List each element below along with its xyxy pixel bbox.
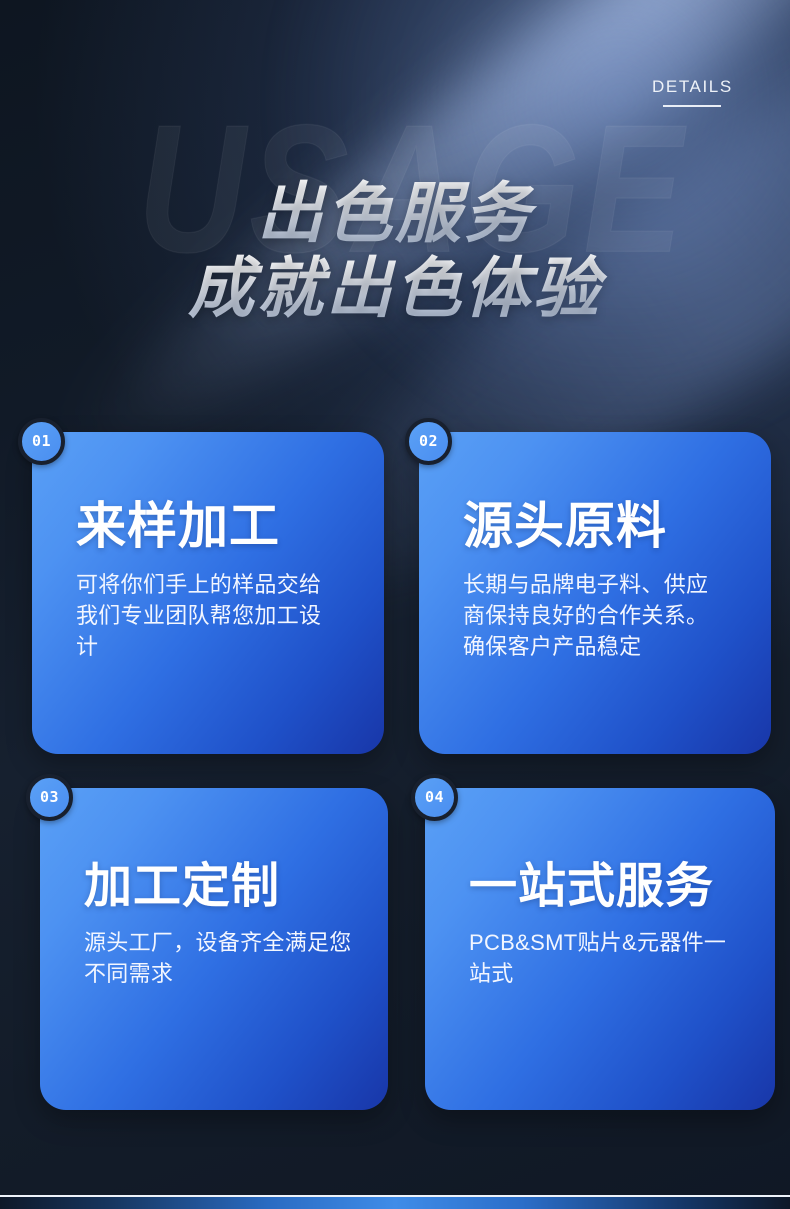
card-description: PCB&SMT贴片&元器件一站式 xyxy=(469,927,737,989)
card-title: 一站式服务 xyxy=(469,862,749,913)
card-content: 源头原料 长期与品牌电子料、供应商保持良好的合作关系。确保客户产品稳定 xyxy=(463,500,745,663)
card-number-label: 04 xyxy=(425,790,444,805)
card-number-label: 03 xyxy=(40,790,59,805)
card-number-label: 01 xyxy=(32,434,51,449)
feature-card-03[interactable]: 03 加工定制 源头工厂，设备齐全满足您不同需求 xyxy=(40,788,388,1110)
card-number-label: 02 xyxy=(419,434,438,449)
card-title: 来样加工 xyxy=(76,500,358,553)
promo-banner-page: USAGE DETAILS 出色服务 成就出色体验 01 来样加工 可将你们手上… xyxy=(0,0,790,1209)
card-number-badge: 02 xyxy=(405,418,452,465)
card-description: 可将你们手上的样品交给我们专业团队帮您加工设计 xyxy=(76,569,338,663)
card-description: 长期与品牌电子料、供应商保持良好的合作关系。确保客户产品稳定 xyxy=(463,569,725,663)
feature-card-grid: 01 来样加工 可将你们手上的样品交给我们专业团队帮您加工设计 02 源头原料 … xyxy=(0,0,790,1209)
card-number-badge: 04 xyxy=(411,774,458,821)
card-title: 加工定制 xyxy=(84,862,362,913)
feature-card-04[interactable]: 04 一站式服务 PCB&SMT贴片&元器件一站式 xyxy=(425,788,775,1110)
feature-card-01[interactable]: 01 来样加工 可将你们手上的样品交给我们专业团队帮您加工设计 xyxy=(32,432,384,754)
card-description: 源头工厂，设备齐全满足您不同需求 xyxy=(84,927,352,989)
card-number-badge: 03 xyxy=(26,774,73,821)
card-title: 源头原料 xyxy=(463,500,745,553)
card-content: 一站式服务 PCB&SMT贴片&元器件一站式 xyxy=(469,862,749,989)
feature-card-02[interactable]: 02 源头原料 长期与品牌电子料、供应商保持良好的合作关系。确保客户产品稳定 xyxy=(419,432,771,754)
card-content: 加工定制 源头工厂，设备齐全满足您不同需求 xyxy=(84,862,362,989)
bottom-accent-bar xyxy=(0,1197,790,1209)
card-content: 来样加工 可将你们手上的样品交给我们专业团队帮您加工设计 xyxy=(76,500,358,663)
card-number-badge: 01 xyxy=(18,418,65,465)
